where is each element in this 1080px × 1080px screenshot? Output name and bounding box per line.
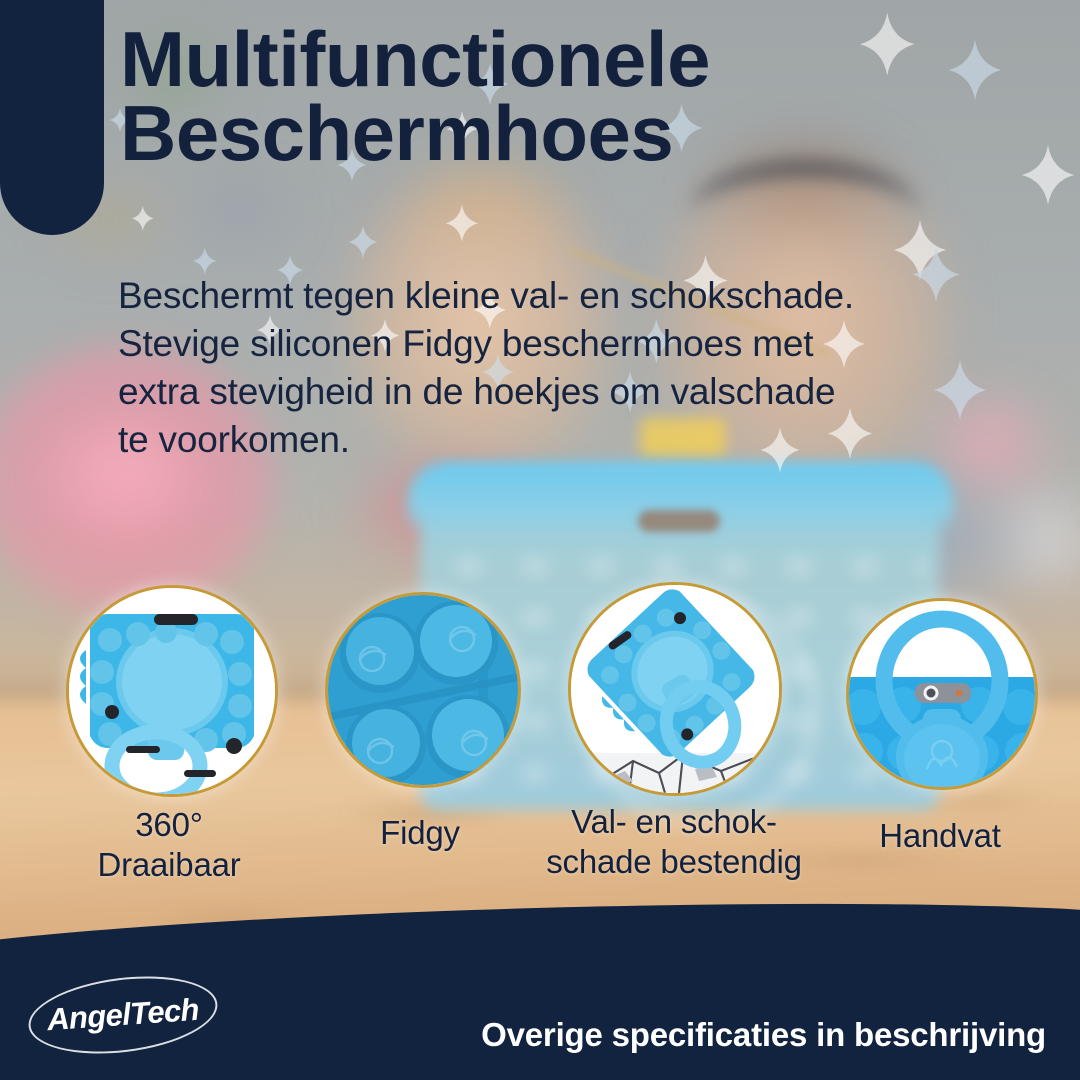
rotating-ring-case-icon bbox=[69, 588, 275, 794]
carry-handle-icon bbox=[849, 601, 1035, 787]
feature-label-handle: Handvat bbox=[830, 816, 1050, 856]
footer-note: Overige specificaties in beschrijving bbox=[481, 1016, 1046, 1054]
feature-label-fidgy: Fidgy bbox=[325, 813, 515, 853]
page-title: Multifunctionele Beschermhoes bbox=[120, 22, 1020, 170]
marketing-banner: Multifunctionele Beschermhoes Beschermt … bbox=[0, 0, 1080, 1080]
headline-line-2: Beschermhoes bbox=[120, 96, 1020, 170]
feature-image-fidgy bbox=[325, 592, 521, 788]
feature-label-shockproof-line-2: schade bestendig bbox=[524, 842, 824, 882]
logo-text: AngelTech bbox=[26, 971, 221, 1058]
feature-image-shockproof bbox=[568, 582, 782, 796]
description-text: Beschermt tegen kleine val- en schokscha… bbox=[118, 272, 1038, 464]
feature-list: 360° Draaibaar bbox=[0, 580, 1080, 910]
description-line-1: Beschermt tegen kleine val- en schokscha… bbox=[118, 272, 1038, 320]
feature-label-handle-line-1: Handvat bbox=[830, 816, 1050, 856]
description-line-2: Stevige siliconen Fidgy beschermhoes met bbox=[118, 320, 1038, 368]
description-line-3: extra stevigheid in de hoekjes om valsch… bbox=[118, 368, 1038, 416]
description-line-4: te voorkomen. bbox=[118, 416, 1038, 464]
feature-label-rotation: 360° Draaibaar bbox=[36, 805, 302, 886]
shockproof-case-icon bbox=[571, 585, 779, 793]
feature-label-shockproof: Val- en schok- schade bestendig bbox=[524, 802, 824, 883]
feature-label-shockproof-line-1: Val- en schok- bbox=[524, 802, 824, 842]
feature-label-fidgy-line-1: Fidgy bbox=[325, 813, 515, 853]
navy-corner-tab bbox=[0, 0, 104, 235]
feature-image-rotation bbox=[66, 585, 278, 797]
feature-image-handle bbox=[846, 598, 1038, 790]
popit-bubbles-icon bbox=[328, 595, 518, 785]
feature-label-rotation-line-1: 360° bbox=[36, 805, 302, 845]
brand-logo[interactable]: AngelTech bbox=[28, 978, 218, 1052]
feature-label-rotation-line-2: Draaibaar bbox=[36, 845, 302, 885]
